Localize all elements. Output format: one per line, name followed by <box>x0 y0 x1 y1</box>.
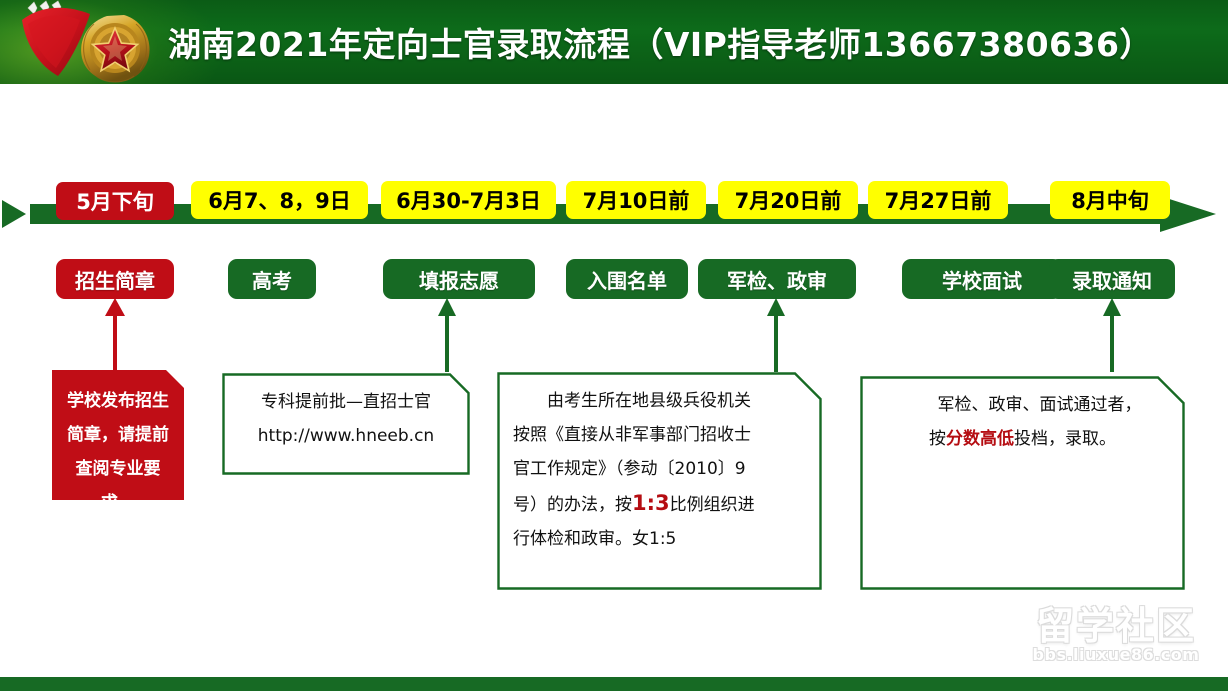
date-chip-5[interactable]: 7月27日前 <box>868 181 1008 219</box>
desc-panel-military-review: 由考生所在地县级兵役机关 按照《直接从非军事部门招收士 官工作规定》（参动〔20… <box>497 372 822 590</box>
connector-arrow-fill-application <box>438 298 456 372</box>
page-title: 湖南2021年定向士官录取流程（VIP指导老师13667380636） <box>168 18 1153 66</box>
date-chip-6[interactable]: 8月中旬 <box>1050 181 1170 219</box>
desc-highlight-score: 分数高低 <box>946 429 1014 449</box>
desc-line: 官工作规定》（参动〔2010〕9 <box>513 452 806 486</box>
desc-line: 学校发布招生 <box>64 384 172 418</box>
desc-panel-admissions-brochure: 学校发布招生 简章，请提前 查阅专业要求。 <box>52 370 184 500</box>
connector-arrow-military-review <box>767 298 785 372</box>
desc-panel-admission-notice: 军检、政审、面试通过者， 按分数高低投档，录取。 <box>860 376 1185 590</box>
header-banner: 湖南2021年定向士官录取流程（VIP指导老师13667380636） <box>0 0 1228 84</box>
date-chip-1[interactable]: 6月7、8，9日 <box>191 181 368 219</box>
desc-text-admissions-brochure: 学校发布招生 简章，请提前 查阅专业要求。 <box>52 370 184 520</box>
desc-line: 专科提前批—直招士官 <box>238 385 454 419</box>
stage-box-gaokao[interactable]: 高考 <box>228 259 316 299</box>
stage-box-school-interview[interactable]: 学校面试 <box>902 259 1062 299</box>
desc-seg: 按 <box>929 429 946 449</box>
stage-box-admission-notice[interactable]: 录取通知 <box>1049 259 1175 299</box>
desc-line: 由考生所在地县级兵役机关 <box>513 384 806 418</box>
stage-box-military-review[interactable]: 军检、政审 <box>698 259 856 299</box>
desc-text-military-review: 由考生所在地县级兵役机关 按照《直接从非军事部门招收士 官工作规定》（参动〔20… <box>497 372 822 556</box>
date-chip-4[interactable]: 7月20日前 <box>718 181 858 219</box>
desc-line: 按分数高低投档，录取。 <box>876 422 1169 456</box>
watermark-title: 留学社区 <box>1016 607 1216 645</box>
desc-line: 军检、政审、面试通过者， <box>876 388 1169 422</box>
pla-army-emblem-icon <box>4 0 154 84</box>
stage-box-shortlist[interactable]: 入围名单 <box>566 259 688 299</box>
date-chip-0[interactable]: 5月下旬 <box>56 182 174 220</box>
watermark: 留学社区 bbs.liuxue86.com <box>1016 607 1216 663</box>
connector-arrows <box>0 296 1228 376</box>
desc-seg: 投档，录取。 <box>1014 429 1116 449</box>
desc-seg: 比例组织进 <box>670 495 755 515</box>
desc-line: 号）的办法，按1:3比例组织进 <box>513 486 806 522</box>
stage-box-admissions-brochure[interactable]: 招生简章 <box>56 259 174 299</box>
desc-line-url[interactable]: http://www.hneeb.cn <box>238 419 454 453</box>
desc-panel-fill-application: 专科提前批—直招士官 http://www.hneeb.cn <box>222 373 470 475</box>
connector-arrow-admission-notice <box>1103 298 1121 372</box>
desc-highlight-ratio: 1:3 <box>632 491 670 515</box>
desc-line: 简章，请提前 <box>64 418 172 452</box>
date-chip-3[interactable]: 7月10日前 <box>566 181 706 219</box>
desc-text-admission-notice: 军检、政审、面试通过者， 按分数高低投档，录取。 <box>860 376 1185 456</box>
desc-text-fill-application: 专科提前批—直招士官 http://www.hneeb.cn <box>222 373 470 453</box>
desc-line: 按照《直接从非军事部门招收士 <box>513 418 806 452</box>
connector-arrow-brochure <box>105 298 125 372</box>
desc-line: 行体检和政审。女1:5 <box>513 522 806 556</box>
slide-canvas: 湖南2021年定向士官录取流程（VIP指导老师13667380636） 5月下旬… <box>0 0 1228 691</box>
desc-line: 查阅专业要求。 <box>64 452 172 520</box>
date-chip-2[interactable]: 6月30-7月3日 <box>381 181 556 219</box>
desc-seg: 号）的办法，按 <box>513 495 632 515</box>
footer-strip <box>0 677 1228 691</box>
stage-box-fill-application[interactable]: 填报志愿 <box>383 259 535 299</box>
watermark-url: bbs.liuxue86.com <box>1016 647 1216 663</box>
